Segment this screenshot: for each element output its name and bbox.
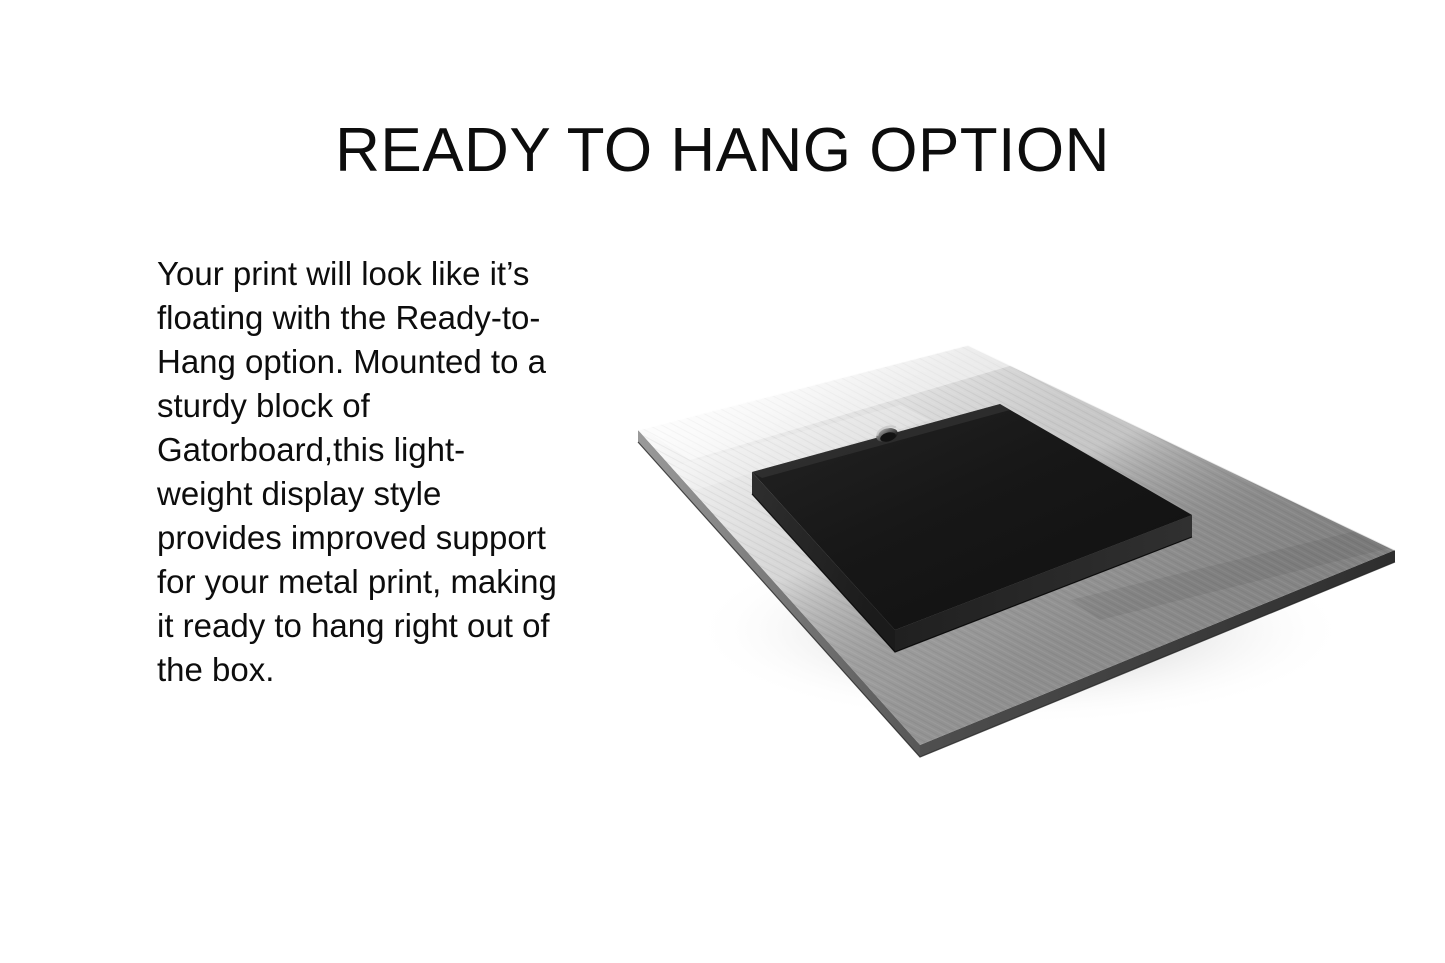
slide-canvas: READY TO HANG OPTION Your print will loo… <box>0 0 1445 963</box>
product-illustration <box>600 300 1430 800</box>
page-title: READY TO HANG OPTION <box>0 118 1445 184</box>
body-paragraph: Your print will look like it’s floating … <box>157 252 557 692</box>
